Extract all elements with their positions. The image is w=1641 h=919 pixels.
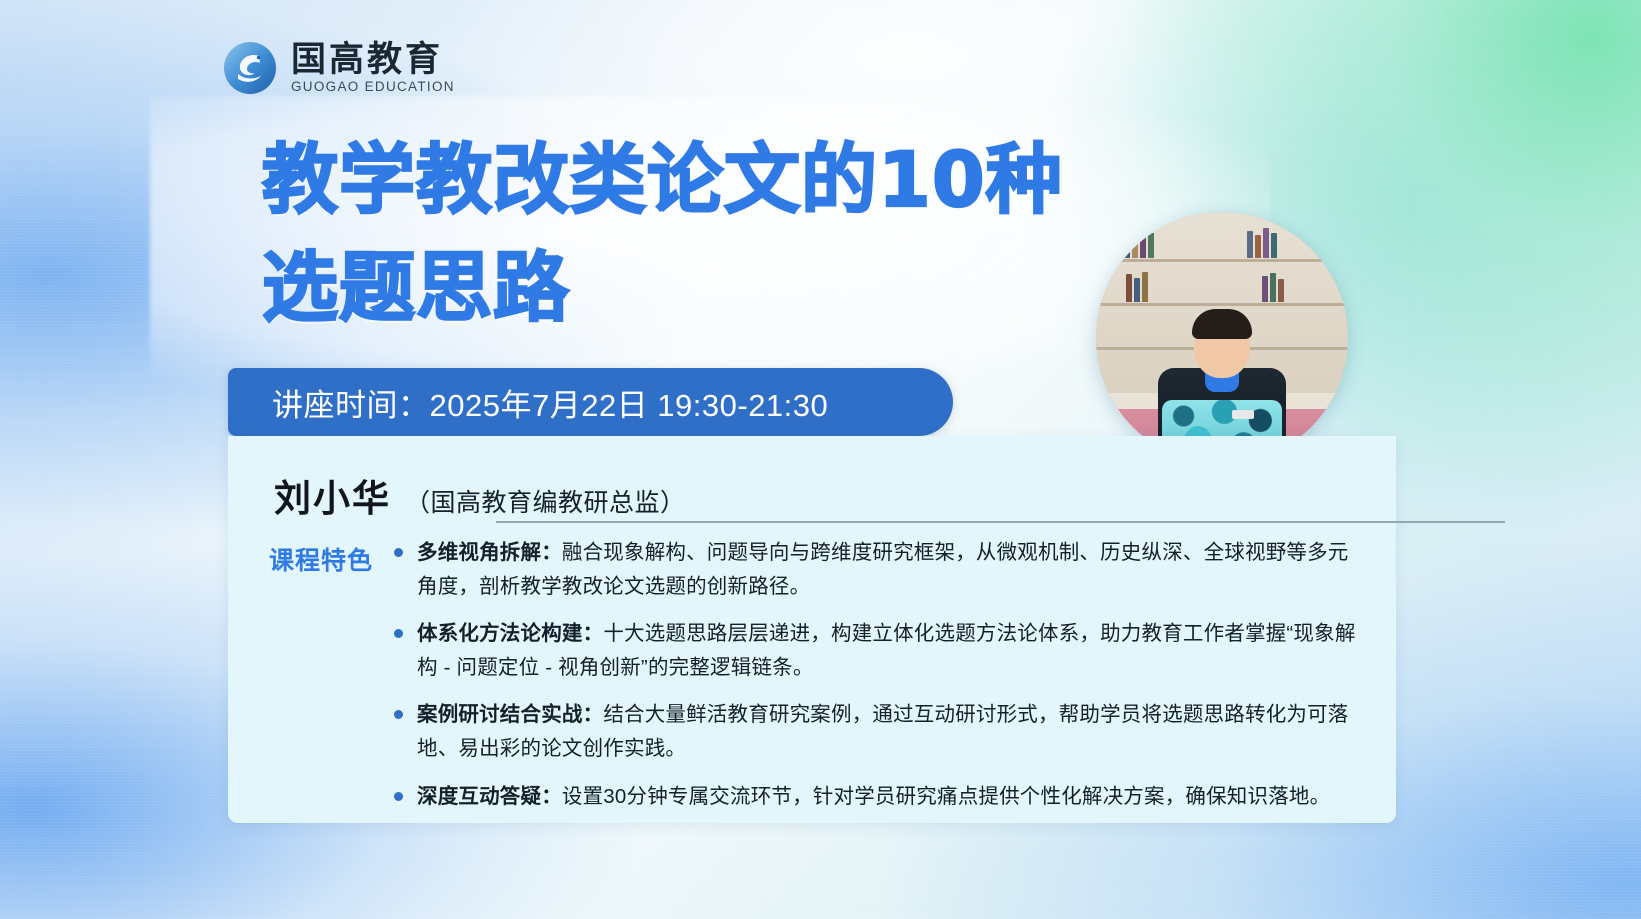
bullet-dot-icon	[394, 792, 403, 801]
card-divider	[496, 521, 1505, 523]
bullet-dot-icon	[394, 629, 403, 638]
features-list: 多维视角拆解：融合现象解构、问题导向与跨维度研究框架，从微观机制、历史纵深、全球…	[394, 536, 1369, 813]
lecture-time-banner: 讲座时间：2025年7月22日 19:30-21:30	[228, 368, 953, 436]
bullet-dot-icon	[394, 548, 403, 557]
feature-title: 案例研讨结合实战：	[417, 703, 603, 726]
poster-headline: 教学教改类论文的10种 选题思路	[262, 126, 1063, 342]
feature-item: 多维视角拆解：融合现象解构、问题导向与跨维度研究框架，从微观机制、历史纵深、全球…	[394, 536, 1369, 603]
bullet-dot-icon	[394, 710, 403, 719]
feature-text: 深度互动答疑：设置30分钟专属交流环节，针对学员研究痛点提供个性化解决方案，确保…	[417, 780, 1330, 814]
feature-item: 案例研讨结合实战：结合大量鲜活教育研究案例，通过互动研讨形式，帮助学员将选题思路…	[394, 698, 1369, 765]
lecture-time-text: 讲座时间：2025年7月22日 19:30-21:30	[228, 380, 828, 425]
speaker-name: 刘小华	[274, 468, 391, 522]
feature-title: 深度互动答疑：	[417, 785, 562, 808]
feature-title: 体系化方法论构建：	[417, 622, 603, 645]
features-label: 课程特色	[269, 541, 373, 577]
headline-line-1: 教学教改类论文的10种	[262, 135, 1063, 224]
feature-text: 体系化方法论构建：十大选题思路层层递进，构建立体化选题方法论体系，助力教育工作者…	[417, 617, 1369, 684]
brand-name-cn: 国高教育	[291, 42, 455, 79]
info-card: 刘小华 （国高教育编教研总监） 课程特色 多维视角拆解：融合现象解构、问题导向与…	[228, 436, 1396, 823]
swan-globe-logo-icon	[222, 40, 278, 96]
speaker-portrait	[1096, 212, 1348, 464]
speaker-block: 刘小华 （国高教育编教研总监）	[274, 468, 686, 522]
feature-item: 体系化方法论构建：十大选题思路层层递进，构建立体化选题方法论体系，助力教育工作者…	[394, 617, 1369, 684]
brand-text-block: 国高教育 GUOGAO EDUCATION	[291, 42, 455, 95]
headline-line-2: 选题思路	[262, 234, 1063, 342]
feature-item: 深度互动答疑：设置30分钟专属交流环节，针对学员研究痛点提供个性化解决方案，确保…	[394, 780, 1369, 814]
feature-body: 设置30分钟专属交流环节，针对学员研究痛点提供个性化解决方案，确保知识落地。	[562, 785, 1330, 808]
feature-text: 多维视角拆解：融合现象解构、问题导向与跨维度研究框架，从微观机制、历史纵深、全球…	[417, 536, 1369, 603]
feature-title: 多维视角拆解：	[417, 541, 562, 564]
feature-text: 案例研讨结合实战：结合大量鲜活教育研究案例，通过互动研讨形式，帮助学员将选题思路…	[417, 698, 1369, 765]
speaker-title: （国高教育编教研总监）	[405, 483, 686, 519]
brand-logo: 国高教育 GUOGAO EDUCATION	[222, 40, 455, 96]
brand-name-en: GUOGAO EDUCATION	[291, 79, 455, 94]
